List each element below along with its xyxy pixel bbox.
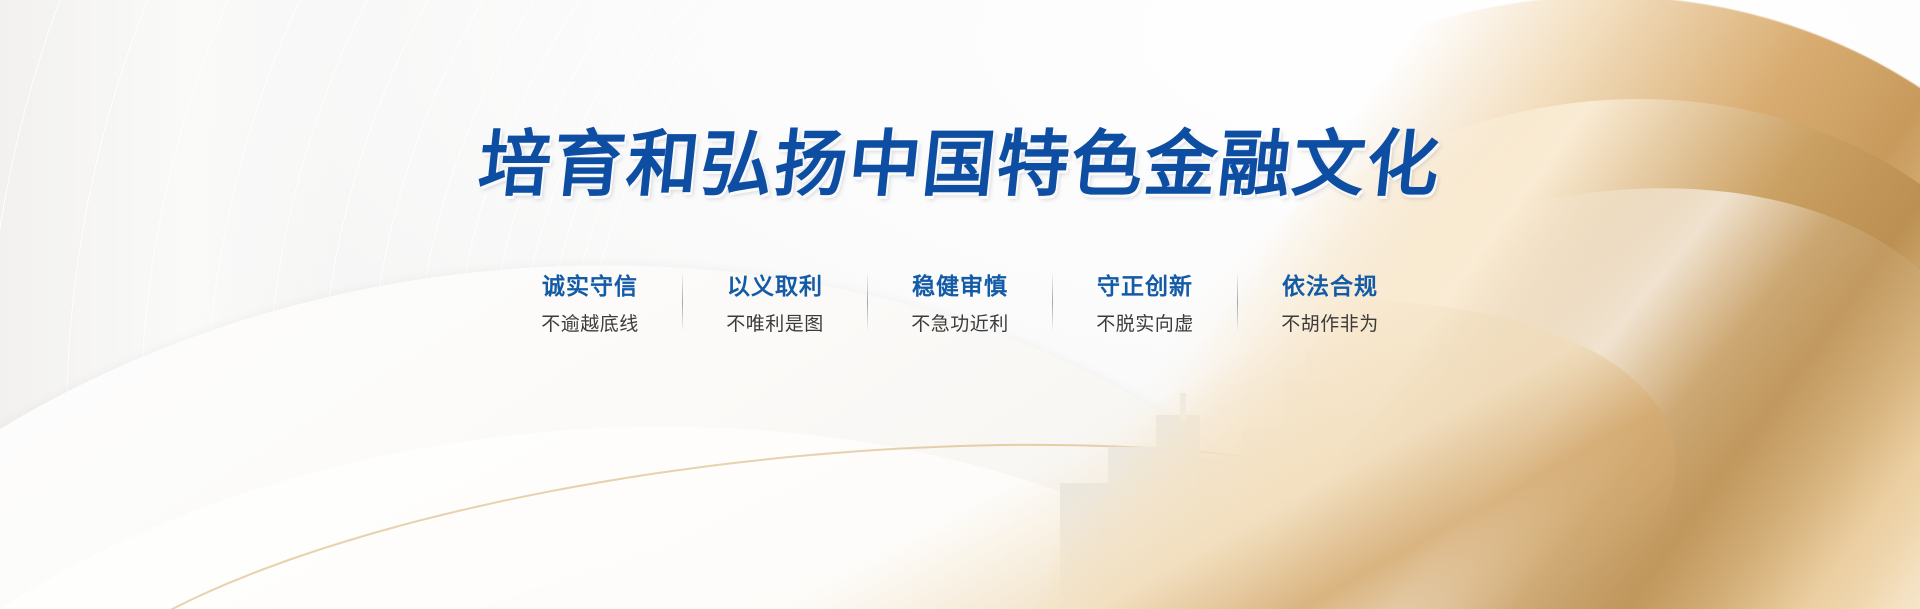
- slogan-divider: [1237, 274, 1238, 330]
- slogan-subtitle: 不急功近利: [911, 311, 1009, 337]
- finance-culture-banner: 培育和弘扬中国特色金融文化 诚实守信 不逾越底线 以义取利 不唯利是图 稳健审慎…: [0, 0, 1920, 609]
- slogan-title: 以义取利: [727, 272, 823, 302]
- slogan-divider: [867, 274, 868, 330]
- slogan-title: 依法合规: [1282, 272, 1378, 302]
- slogan-item-2: 以义取利 不唯利是图: [697, 272, 853, 337]
- slogan-divider: [682, 274, 683, 330]
- banner-content: 培育和弘扬中国特色金融文化 诚实守信 不逾越底线 以义取利 不唯利是图 稳健审慎…: [0, 0, 1920, 609]
- slogan-divider: [1052, 274, 1053, 330]
- slogan-title: 守正创新: [1097, 272, 1193, 302]
- slogan-list: 诚实守信 不逾越底线 以义取利 不唯利是图 稳健审慎 不急功近利 守正创新 不脱…: [0, 272, 1920, 337]
- slogan-title: 稳健审慎: [912, 272, 1008, 302]
- slogan-subtitle: 不唯利是图: [726, 311, 824, 337]
- slogan-item-3: 稳健审慎 不急功近利: [882, 272, 1038, 337]
- slogan-title: 诚实守信: [542, 272, 638, 302]
- slogan-subtitle: 不脱实向虚: [1096, 311, 1194, 337]
- page-title: 培育和弘扬中国特色金融文化: [0, 128, 1920, 200]
- slogan-item-5: 依法合规 不胡作非为: [1252, 272, 1408, 337]
- slogan-item-4: 守正创新 不脱实向虚: [1067, 272, 1223, 337]
- slogan-subtitle: 不逾越底线: [541, 311, 639, 337]
- slogan-item-1: 诚实守信 不逾越底线: [512, 272, 668, 337]
- slogan-subtitle: 不胡作非为: [1281, 311, 1379, 337]
